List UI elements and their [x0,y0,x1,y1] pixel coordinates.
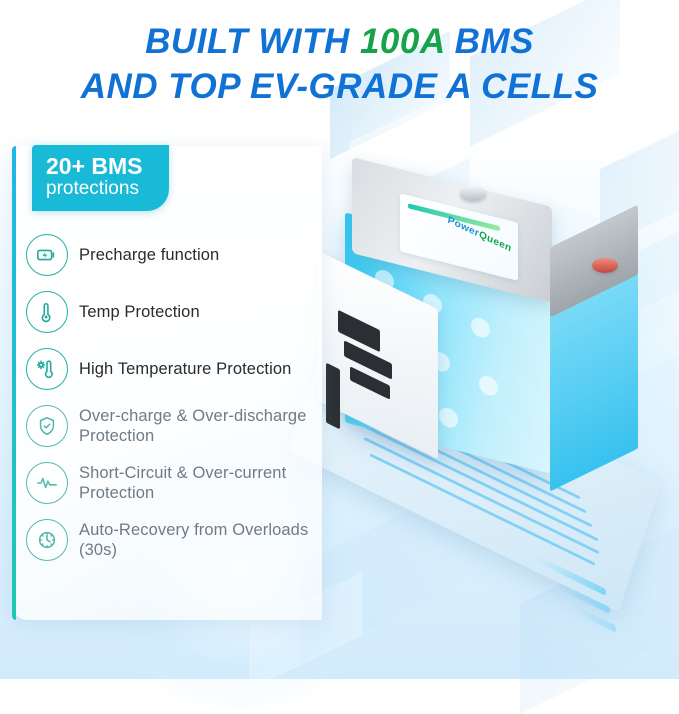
protections-badge: 20+ BMS protections [32,145,169,211]
feature-item: Short-Circuit & Over-current Protection [26,460,312,506]
brand-name-post: Queen [478,229,513,254]
badge-line-1: 20+ BMS [46,154,143,178]
pulse-waveform-icon [26,462,68,504]
feature-label: Temp Protection [79,302,200,322]
terminal-negative [460,186,486,201]
headline-line-1-pre: BUILT WITH [145,22,360,61]
headline-line-1-post: BMS [444,22,534,61]
feature-item: Auto-Recovery from Overloads (30s) [26,517,312,563]
thermometer-icon [26,291,68,333]
feature-label: Over-charge & Over-discharge Protection [79,406,312,446]
feature-label: Short-Circuit & Over-current Protection [79,463,312,503]
feature-label: High Temperature Protection [79,359,291,379]
badge-line-2: protections [46,178,143,200]
product-photo: PowerQueen [300,170,679,640]
bms-protections-card: 20+ BMS protections Precharge function T… [12,146,322,620]
headline-highlight: 100A [360,22,444,61]
terminal-positive [592,258,618,273]
feature-item: High Temperature Protection [26,346,312,392]
feature-item: Temp Protection [26,289,312,335]
headline-line-1: BUILT WITH 100A BMS [0,20,679,65]
features-list: Precharge function Temp Protection High … [26,232,312,574]
feature-label: Precharge function [79,245,219,265]
headline-line-2: AND TOP EV-GRADE A CELLS [0,65,679,110]
feature-label: Auto-Recovery from Overloads (30s) [79,520,312,560]
auto-recovery-gear-icon [26,519,68,561]
feature-item: Precharge function [26,232,312,278]
high-temperature-icon [26,348,68,390]
headline: BUILT WITH 100A BMS AND TOP EV-GRADE A C… [0,20,679,110]
feature-item: Over-charge & Over-discharge Protection [26,403,312,449]
shield-check-icon [26,405,68,447]
battery-bolt-icon [26,234,68,276]
